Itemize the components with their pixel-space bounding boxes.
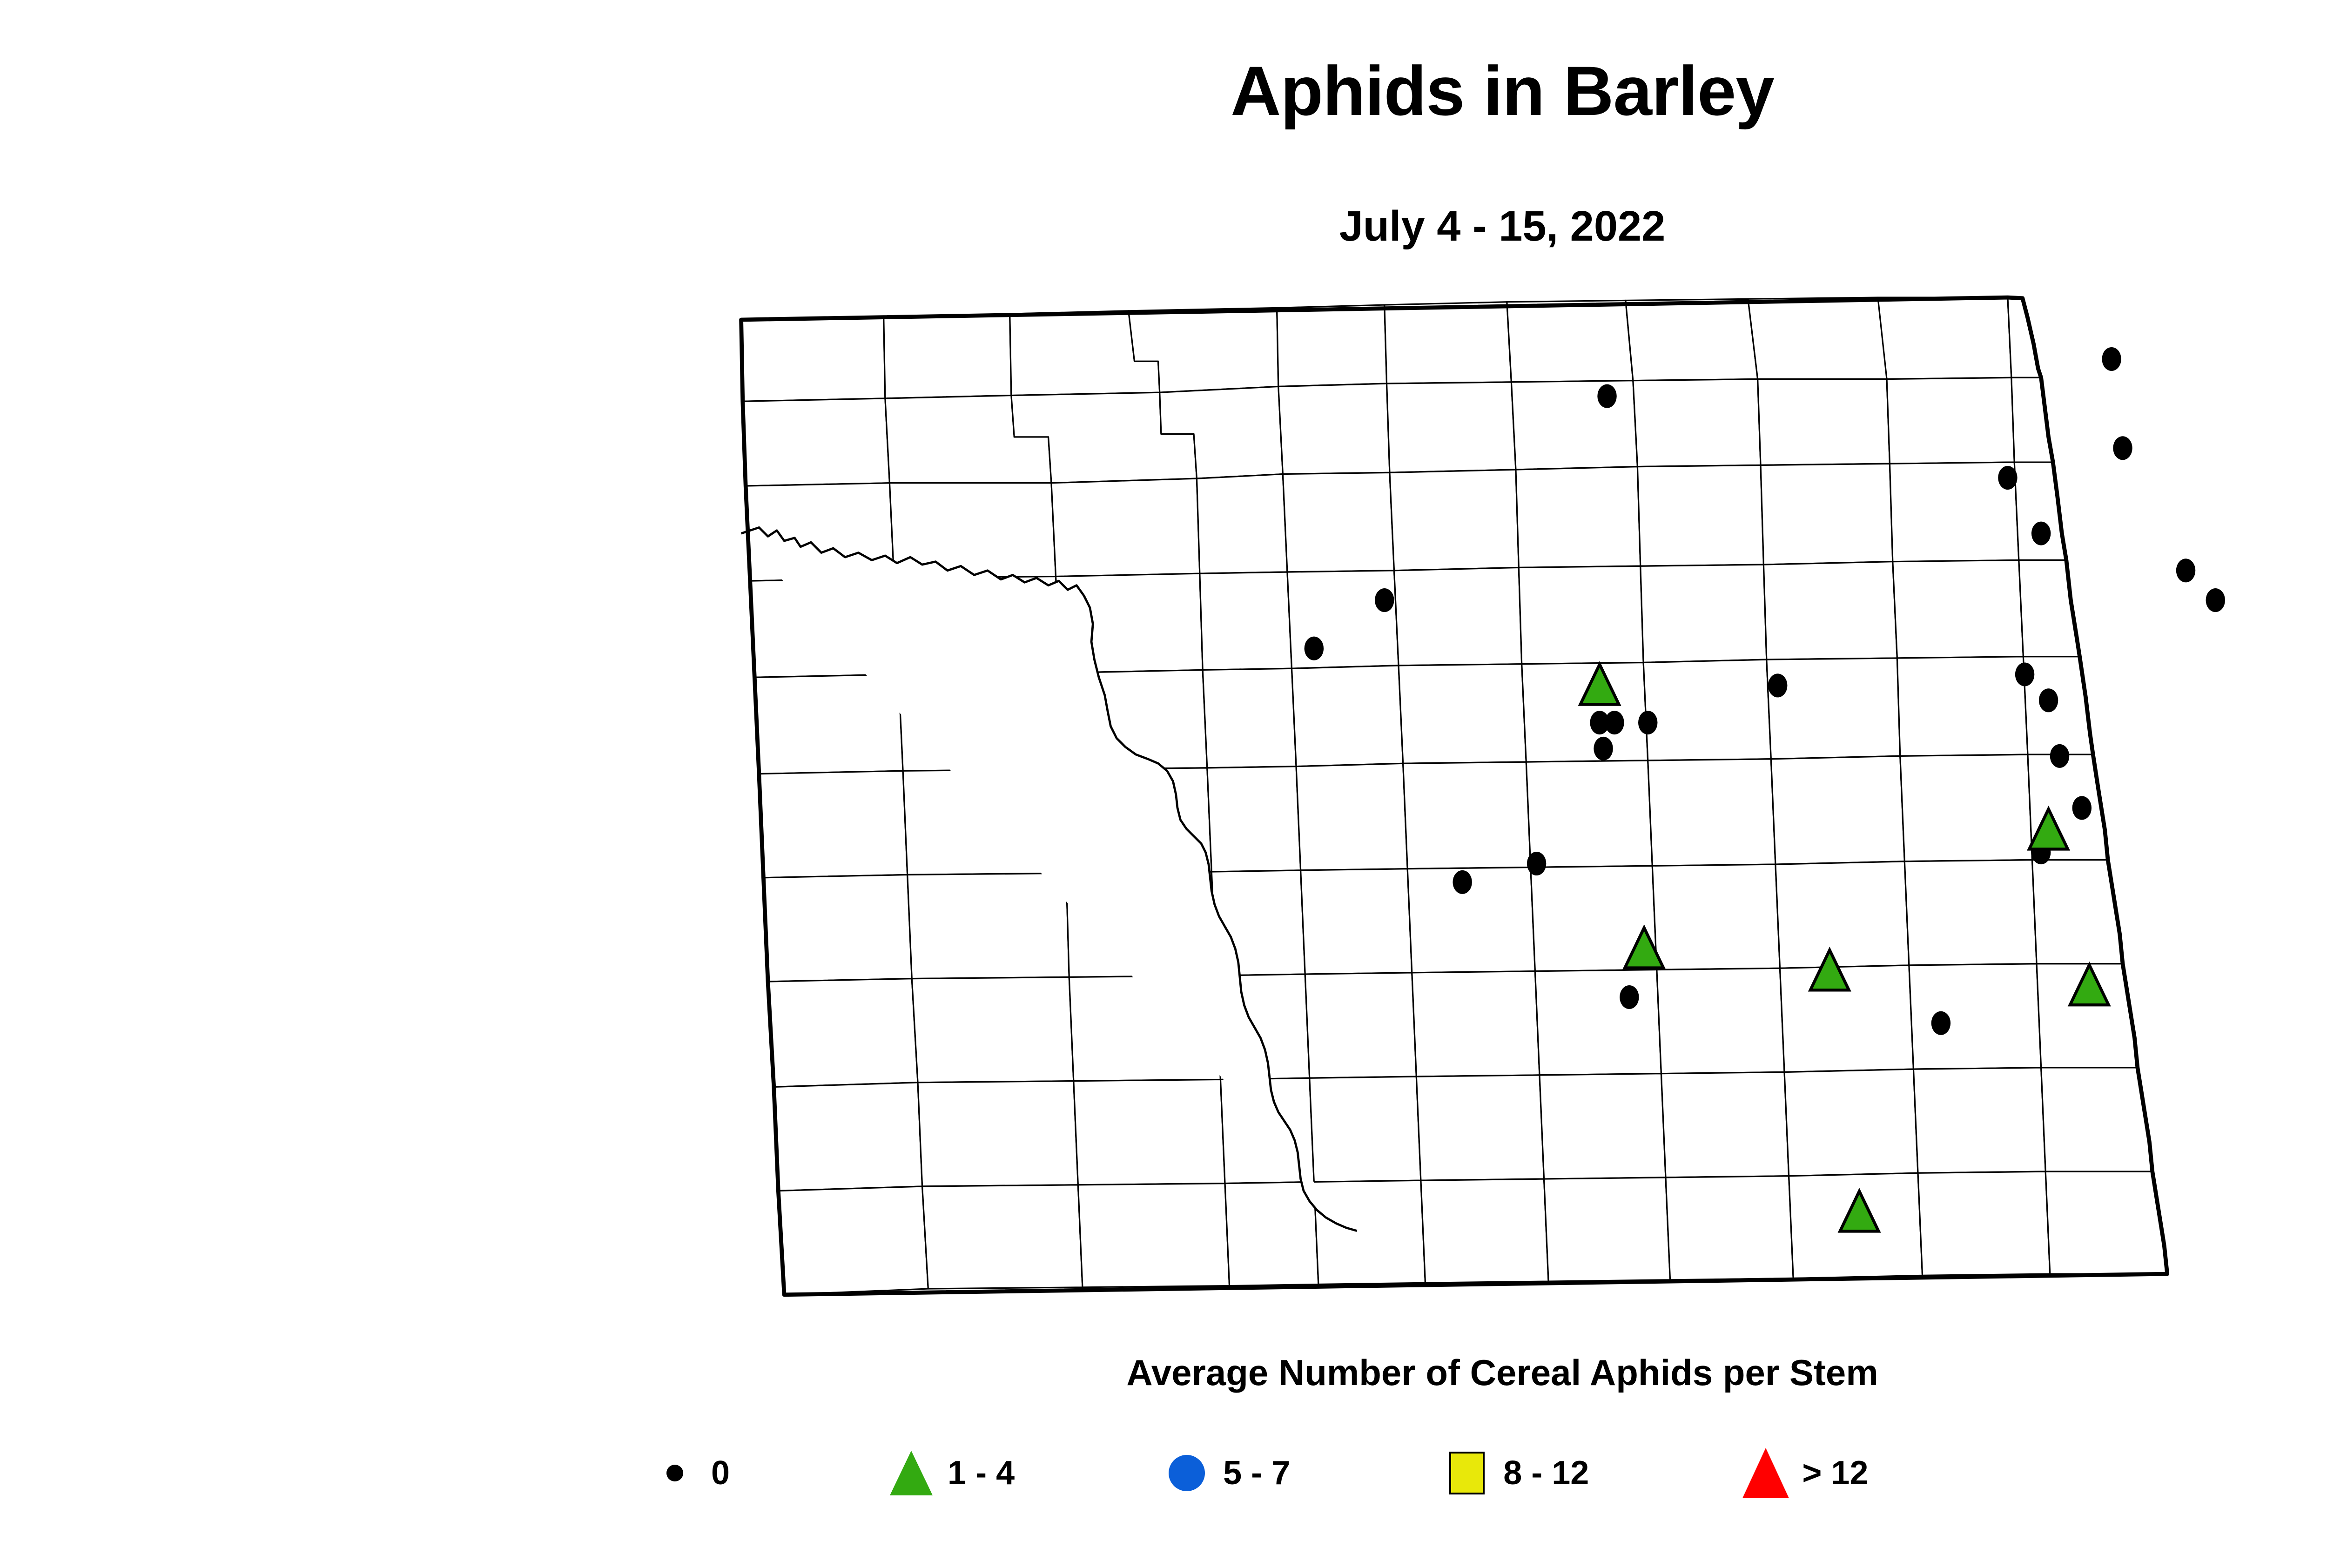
map-marker-zero[interactable] bbox=[1305, 637, 1324, 660]
map-marker-zero[interactable] bbox=[1527, 852, 1546, 875]
map-marker-zero[interactable] bbox=[2072, 796, 2092, 820]
map-marker-zero[interactable] bbox=[2206, 588, 2225, 612]
legend-item-1[interactable]: 1 - 4 bbox=[883, 1443, 1015, 1503]
map-marker-zero[interactable] bbox=[1998, 466, 2017, 490]
map-marker-zero[interactable] bbox=[1931, 1011, 1950, 1035]
legend-title: Average Number of Cereal Aphids per Stem bbox=[0, 1354, 2327, 1391]
blue-circle-icon bbox=[1159, 1445, 1215, 1501]
legend-label-0: 0 bbox=[711, 1456, 730, 1490]
legend-item-3[interactable]: 8 - 12 bbox=[1439, 1443, 1589, 1503]
north-dakota-county-map[interactable] bbox=[624, 289, 2327, 1312]
legend-label-2: 5 - 7 bbox=[1223, 1456, 1290, 1490]
map-svg bbox=[624, 289, 2327, 1312]
page-subtitle: July 4 - 15, 2022 bbox=[0, 205, 2327, 248]
map-marker-zero[interactable] bbox=[1620, 985, 1639, 1009]
red-triangle-icon bbox=[1738, 1445, 1794, 1501]
yellow-square-icon bbox=[1439, 1445, 1495, 1501]
legend-item-4[interactable]: > 12 bbox=[1738, 1443, 1868, 1503]
map-marker-zero[interactable] bbox=[2031, 522, 2051, 545]
map-marker-zero[interactable] bbox=[2050, 744, 2069, 768]
map-marker-zero[interactable] bbox=[1605, 711, 1624, 734]
black-dot-icon bbox=[647, 1445, 703, 1501]
map-marker-zero[interactable] bbox=[1638, 711, 1657, 734]
legend: 0 1 - 4 5 - 7 8 - 12 > 12 bbox=[647, 1436, 2327, 1510]
page-title: Aphids in Barley bbox=[0, 56, 2327, 126]
map-marker-zero[interactable] bbox=[1594, 737, 1613, 760]
map-marker-zero[interactable] bbox=[1768, 673, 1787, 697]
map-page: Aphids in Barley July 4 - 15, 2022 bbox=[0, 0, 2327, 1568]
legend-label-4: > 12 bbox=[1802, 1456, 1868, 1490]
legend-label-1: 1 - 4 bbox=[948, 1456, 1015, 1490]
map-marker-zero[interactable] bbox=[1597, 384, 1616, 408]
map-marker-zero[interactable] bbox=[2176, 559, 2195, 582]
legend-item-2[interactable]: 5 - 7 bbox=[1159, 1443, 1290, 1503]
map-marker-zero[interactable] bbox=[1453, 870, 1472, 894]
legend-item-0[interactable]: 0 bbox=[647, 1443, 730, 1503]
map-marker-zero[interactable] bbox=[2015, 662, 2034, 686]
legend-label-3: 8 - 12 bbox=[1503, 1456, 1589, 1490]
map-marker-zero[interactable] bbox=[2113, 436, 2132, 460]
map-marker-zero[interactable] bbox=[2102, 347, 2121, 371]
county-boundaries bbox=[741, 297, 2167, 1295]
green-triangle-icon bbox=[883, 1445, 939, 1501]
map-marker-zero[interactable] bbox=[1375, 588, 1394, 612]
map-marker-zero[interactable] bbox=[2039, 688, 2058, 712]
